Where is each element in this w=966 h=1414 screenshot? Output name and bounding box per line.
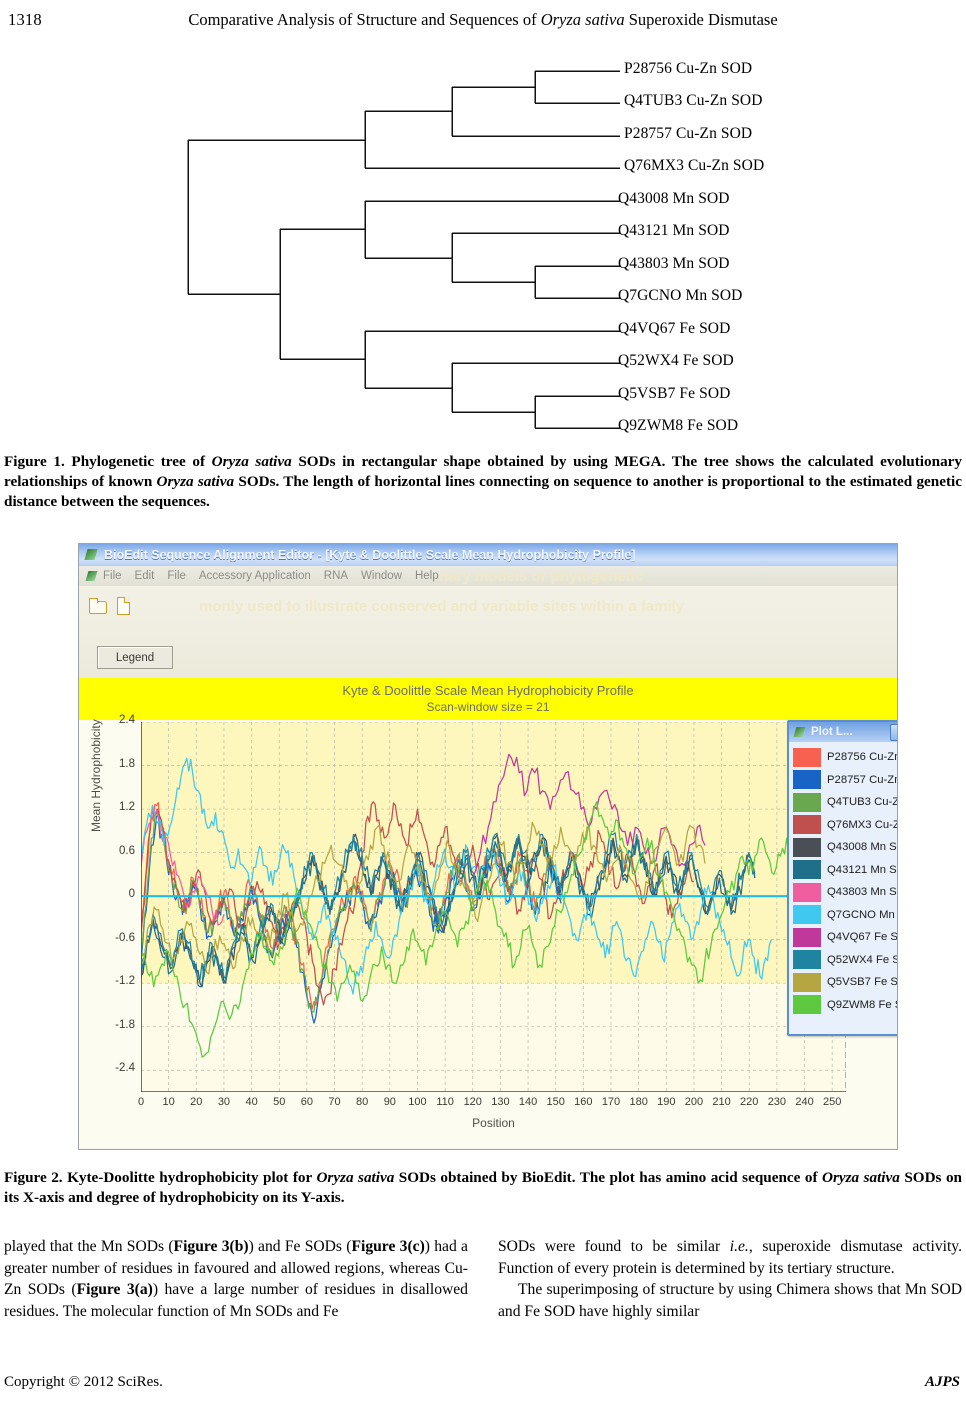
plot-legend-item[interactable]: Q76MX3 Cu-Zn SOD [793,814,898,837]
y-tick-label: -2.4 [101,1062,135,1074]
legend-item-label: P28756 Cu-Zn SOD [827,751,898,763]
running-head: 1318 Comparative Analysis of Structure a… [0,8,966,34]
legend-item-label: Q9ZWM8 Fe SOD [827,999,898,1011]
legend-button[interactable]: Legend [97,646,173,669]
body-paragraph-right-1: SODs were found to be similar i.e., supe… [498,1236,962,1279]
plot-legend-item[interactable]: Q43803 Mn SOD [793,881,898,904]
plot-legend-titlebar: Plot L... – ❑ ✕ [789,722,898,742]
plot-legend-item[interactable]: Q43121 Mn SOD [793,859,898,882]
tree-tip-label: P28757 Cu-Zn SOD [624,125,752,143]
journal-abbreviation: AJPS [925,1374,960,1391]
fig2-caption-part2: SODs obtained by BioEdit. The plot has a… [394,1169,822,1186]
plot-legend-item[interactable]: Q4VQ67 Fe SOD [793,926,898,949]
plot-legend-window: Plot L... – ❑ ✕ P28756 Cu-Zn SODP28757 C… [787,720,898,1036]
legend-item-label: Q4TUB3 Cu-Zn SOD [827,796,898,808]
x-tick-label: 140 [516,1096,540,1108]
menu-item-file-2[interactable]: File [167,570,186,582]
plot-legend-app-icon [793,726,808,739]
tree-tip-label: Q43803 Mn SOD [618,255,730,273]
x-tick-label: 250 [820,1096,844,1108]
legend-color-swatch [793,838,821,857]
tree-tip-label: Q5VSB7 Fe SOD [618,385,730,403]
fig1-caption-italic1: Oryza sativa [212,453,292,470]
tree-tip-label: Q9ZWM8 Fe SOD [618,417,738,435]
bioedit-app-icon [84,548,100,562]
fig2-caption-italic2: Oryza sativa [822,1169,900,1186]
right-text-a: SODs were found to be similar [498,1238,730,1255]
running-title-part1: Comparative Analysis of Structure and Se… [188,10,540,29]
y-tick-label: -0.6 [101,932,135,944]
body-paragraph-left: played that the Mn SODs (Figure 3(b)) an… [4,1236,468,1322]
plot-legend-list: P28756 Cu-Zn SODP28757 Cu-Zn SODQ4TUB3 C… [789,742,898,1016]
tree-tip-label: Q43121 Mn SOD [618,222,730,240]
plot-title: Kyte & Doolittle Scale Mean Hydrophobici… [342,683,633,700]
legend-color-swatch [793,770,821,789]
plot-legend-item[interactable]: Q43008 Mn SOD [793,836,898,859]
tree-tip-label: Q76MX3 Cu-Zn SOD [624,157,764,175]
tree-tip-label: Q52WX4 Fe SOD [618,352,734,370]
legend-color-swatch [793,995,821,1014]
minimize-icon: – [891,725,898,740]
ghost-text-overlay-2: nary models or phylogenetic [439,568,643,585]
y-tick-label: 1.2 [101,801,135,813]
y-tick-label: -1.2 [101,975,135,987]
x-tick-label: 50 [267,1096,291,1108]
legend-color-swatch [793,883,821,902]
legend-color-swatch [793,793,821,812]
legend-item-label: Q52WX4 Fe SOD [827,954,898,966]
body-column-right: SODs were found to be similar i.e., supe… [498,1236,962,1322]
x-tick-label: 70 [323,1096,347,1108]
legend-item-label: Q5VSB7 Fe SOD [827,976,898,988]
bioedit-toolbar: monly used to illustrate conserved and v… [79,586,897,678]
x-tick-label: 130 [488,1096,512,1108]
minimize-button[interactable]: – [890,724,898,741]
x-tick-label: 200 [682,1096,706,1108]
bioedit-menu-icon [85,570,99,583]
x-tick-label: 60 [295,1096,319,1108]
x-tick-label: 230 [765,1096,789,1108]
x-tick-label: 80 [350,1096,374,1108]
legend-color-swatch [793,748,821,767]
figure-ref-3b: Figure 3(b) [174,1238,249,1255]
y-tick-label: 2.4 [101,714,135,726]
x-tick-label: 210 [710,1096,734,1108]
page-footer: Copyright © 2012 SciRes. AJPS [0,1374,966,1400]
legend-item-label: Q76MX3 Cu-Zn SOD [827,819,898,831]
y-tick-label: 0.6 [101,845,135,857]
legend-color-swatch [793,860,821,879]
new-document-icon[interactable] [115,597,132,613]
legend-color-swatch [793,973,821,992]
x-tick-label: 240 [793,1096,817,1108]
plot-legend-item[interactable]: P28756 Cu-Zn SOD [793,746,898,769]
bioedit-window-title: BioEdit Sequence Alignment Editor - [Kyt… [104,548,636,562]
running-title-part2: Superoxide Dismutase [625,10,778,29]
legend-item-label: Q43008 Mn SOD [827,841,898,853]
menu-item-accessory-application[interactable]: Accessory Application [199,570,311,582]
fig1-caption-part1: Figure 1. Phylogenetic tree of [4,453,212,470]
x-tick-label: 160 [571,1096,595,1108]
open-folder-icon[interactable] [89,598,106,614]
legend-item-label: P28757 Cu-Zn SOD [827,774,898,786]
figure-ref-3a: Figure 3(a) [77,1281,153,1298]
paper-page: 1318 Comparative Analysis of Structure a… [0,0,966,1414]
plot-legend-item[interactable]: Q4TUB3 Cu-Zn SOD [793,791,898,814]
x-tick-label: 90 [378,1096,402,1108]
figure-2-caption: Figure 2. Kyte-Doolitte hydrophobicity p… [4,1168,962,1208]
plot-legend-item[interactable]: Q9ZWM8 Fe SOD [793,994,898,1017]
x-tick-label: 100 [405,1096,429,1108]
figure-ref-3c: Figure 3(c) [351,1238,424,1255]
legend-color-swatch [793,950,821,969]
x-tick-label: 0 [129,1096,153,1108]
x-tick-label: 120 [461,1096,485,1108]
menu-item-edit[interactable]: Edit [135,570,155,582]
x-axis-label: Position [141,1116,846,1130]
legend-color-swatch [793,928,821,947]
legend-item-label: Q7GCNO Mn SOD [827,909,898,921]
legend-color-swatch [793,815,821,834]
plot-title-block: Kyte & Doolittle Scale Mean Hydrophobici… [79,678,897,720]
menu-item-help[interactable]: Help [415,570,439,582]
phylogenetic-tree-overlay [170,48,620,446]
plot-legend-item[interactable]: Q52WX4 Fe SOD [793,949,898,972]
x-tick-label: 220 [737,1096,761,1108]
figure-1: P28756 Cu-Zn SOD Q4TUB3 Cu-Zn SOD P28757… [0,48,966,446]
right-text-ie: i.e. [730,1238,749,1255]
y-tick-label: 1.8 [101,758,135,770]
tree-tip-label: Q7GCNO Mn SOD [618,287,742,305]
plot-canvas [141,722,846,1092]
legend-item-label: Q43121 Mn SOD [827,864,898,876]
x-tick-label: 30 [212,1096,236,1108]
plot-legend-item[interactable]: Q7GCNO Mn SOD [793,904,898,927]
x-tick-label: 170 [599,1096,623,1108]
y-axis-label: Mean Hydrophobicity [89,719,103,832]
tree-tip-label: Q4TUB3 Cu-Zn SOD [624,92,763,110]
left-text-a: played that the Mn SODs ( [4,1238,174,1255]
figure-1-caption: Figure 1. Phylogenetic tree of Oryza sat… [4,452,962,511]
fig1-caption-italic2: Oryza sativa [157,473,235,490]
x-tick-label: 150 [544,1096,568,1108]
left-text-c: ) and Fe SODs ( [249,1238,352,1255]
copyright-text: Copyright © 2012 SciRes. [4,1374,163,1391]
plot-legend-item[interactable]: Q5VSB7 Fe SOD [793,971,898,994]
plot-legend-item[interactable]: P28757 Cu-Zn SOD [793,769,898,792]
body-column-left: played that the Mn SODs (Figure 3(b)) an… [4,1236,468,1322]
legend-item-label: Q4VQ67 Fe SOD [827,931,898,943]
plot-axes-area: Mean Hydrophobicity 2.41.81.20.60-0.6-1.… [141,722,846,1092]
bioedit-titlebar: BioEdit Sequence Alignment Editor - [Kyt… [79,544,897,566]
x-tick-label: 10 [157,1096,181,1108]
x-tick-label: 110 [433,1096,457,1108]
menu-item-window[interactable]: Window [361,570,402,582]
menu-item-file[interactable]: File [103,570,122,582]
y-tick-label: -1.8 [101,1019,135,1031]
x-tick-label: 180 [627,1096,651,1108]
body-paragraph-right-2: The superimposing of structure by using … [498,1279,962,1322]
fig2-caption-part1: Figure 2. Kyte-Doolitte hydrophobicity p… [4,1169,316,1186]
hydrophobicity-plot: Kyte & Doolittle Scale Mean Hydrophobici… [79,678,897,1148]
bioedit-window: BioEdit Sequence Alignment Editor - [Kyt… [78,543,898,1150]
ghost-text-overlay-1: monly used to illustrate conserved and v… [199,598,684,615]
plot-legend-title: Plot L... [811,726,888,738]
fig2-caption-italic1: Oryza sativa [316,1169,394,1186]
tree-tip-label: P28756 Cu-Zn SOD [624,60,752,78]
x-tick-label: 20 [184,1096,208,1108]
x-tick-label: 190 [654,1096,678,1108]
legend-color-swatch [793,905,821,924]
legend-item-label: Q43803 Mn SOD [827,886,898,898]
running-title-italic: Oryza sativa [541,10,625,29]
tree-tip-label: Q43008 Mn SOD [618,190,730,208]
x-tick-label: 40 [240,1096,264,1108]
running-title: Comparative Analysis of Structure and Se… [0,10,966,30]
y-tick-label: 0 [101,888,135,900]
plot-subtitle: Scan-window size = 21 [426,700,549,715]
tree-tip-label: Q4VQ67 Fe SOD [618,320,730,338]
menu-item-rna[interactable]: RNA [324,570,348,582]
